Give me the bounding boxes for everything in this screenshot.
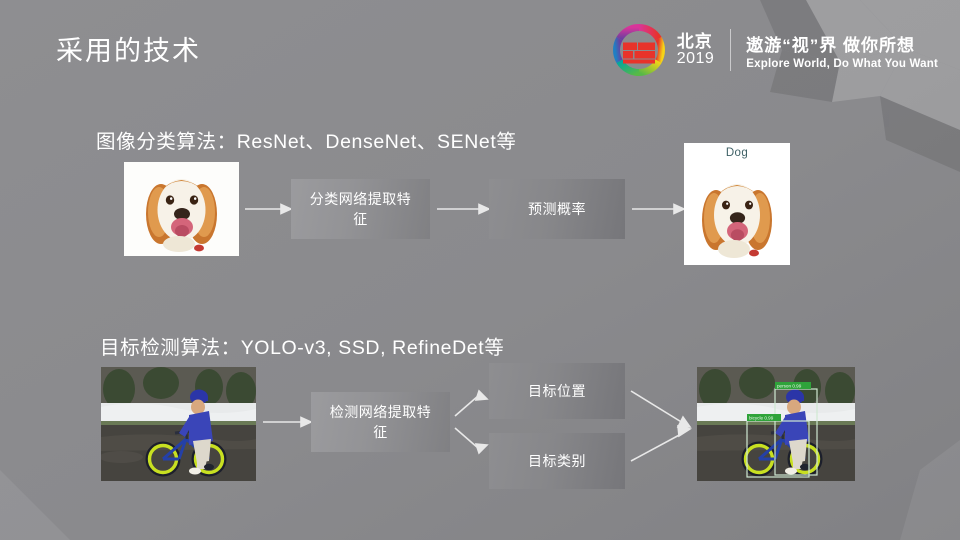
svg-text:person 0.99: person 0.99 (777, 383, 802, 388)
classification-result-label: Dog (684, 147, 790, 159)
brand-divider (730, 29, 731, 71)
page-title: 采用的技术 (56, 29, 201, 68)
brand-slogan-cn: 遨游“视”界 做你所想 (746, 31, 938, 56)
flow-box-object-category[interactable]: 目标类别 (489, 433, 625, 489)
flow-box-object-location[interactable]: 目标位置 (489, 363, 625, 419)
brand-city-year: 北京 2019 (677, 33, 715, 68)
bicycle-input-photo (101, 367, 256, 481)
flow-box-classification-feature[interactable]: 分类网络提取特征 (291, 179, 430, 239)
livevideostackcon-logo-icon (612, 23, 666, 77)
dog-input-photo (124, 162, 239, 256)
brand-slogan: 遨游“视”界 做你所想 Explore World, Do What You W… (746, 31, 938, 70)
flow-box-prediction-probability[interactable]: 预测概率 (489, 179, 625, 239)
section-heading-classification: 图像分类算法：ResNet、DenseNet、SENet等 (96, 125, 517, 154)
dog-output-photo: Dog (684, 143, 790, 265)
brand-slogan-en: Explore World, Do What You Want (746, 58, 938, 70)
flow-box-detection-feature[interactable]: 检测网络提取特征 (311, 392, 450, 452)
brand-city: 北京 (677, 33, 715, 51)
brand-year: 2019 (677, 51, 715, 68)
brand-bar: 北京 2019 遨游“视”界 做你所想 Explore World, Do Wh… (612, 22, 938, 78)
presentation-slide: 采用的技术 (0, 0, 960, 540)
svg-text:bicycle 0.99: bicycle 0.99 (749, 415, 774, 420)
section-heading-detection: 目标检测算法：YOLO-v3, SSD, RefineDet等 (100, 331, 504, 360)
bicycle-detection-photo: person 0.99 bicycle 0.99 (697, 367, 855, 481)
